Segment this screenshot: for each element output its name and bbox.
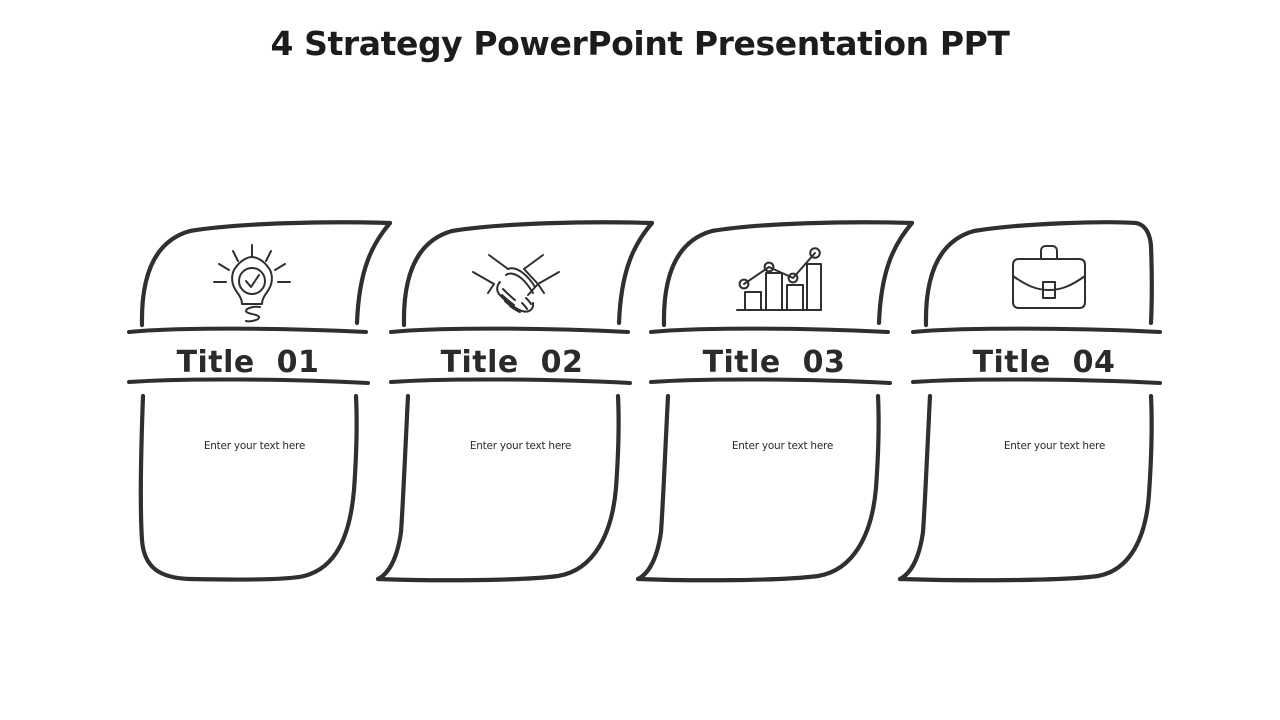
bar-chart-growth-icon: [733, 240, 825, 320]
card-03-title: Title 03: [640, 345, 908, 380]
strategy-card-04[interactable]: Title 04 Enter your text here: [912, 210, 1180, 585]
card-02-title: Title 02: [378, 345, 646, 380]
presentation-slide: 4 Strategy PowerPoint Presentation PPT: [0, 0, 1280, 720]
strategy-card-01[interactable]: Title 01 Enter your text here: [128, 210, 396, 585]
strategy-card-02[interactable]: Title 02 Enter your text here: [390, 210, 658, 585]
lightbulb-check-icon: [206, 240, 298, 328]
strategy-card-03[interactable]: Title 03 Enter your text here: [650, 210, 918, 585]
card-03-icon-wrap: [645, 240, 913, 320]
page-title: 4 Strategy PowerPoint Presentation PPT: [0, 24, 1280, 63]
card-02-icon-wrap: [382, 240, 650, 320]
card-01-icon-wrap: [118, 240, 386, 328]
card-01-title: Title 01: [114, 345, 382, 380]
card-02-body-text[interactable]: Enter your text here: [418, 440, 623, 452]
card-04-icon-wrap: [915, 240, 1183, 318]
card-01-body-text[interactable]: Enter your text here: [152, 440, 357, 452]
briefcase-icon: [1003, 240, 1095, 318]
card-04-body-text[interactable]: Enter your text here: [952, 440, 1157, 452]
handshake-icon: [466, 240, 566, 320]
card-03-body-text[interactable]: Enter your text here: [680, 440, 885, 452]
card-04-title: Title 04: [910, 345, 1178, 380]
